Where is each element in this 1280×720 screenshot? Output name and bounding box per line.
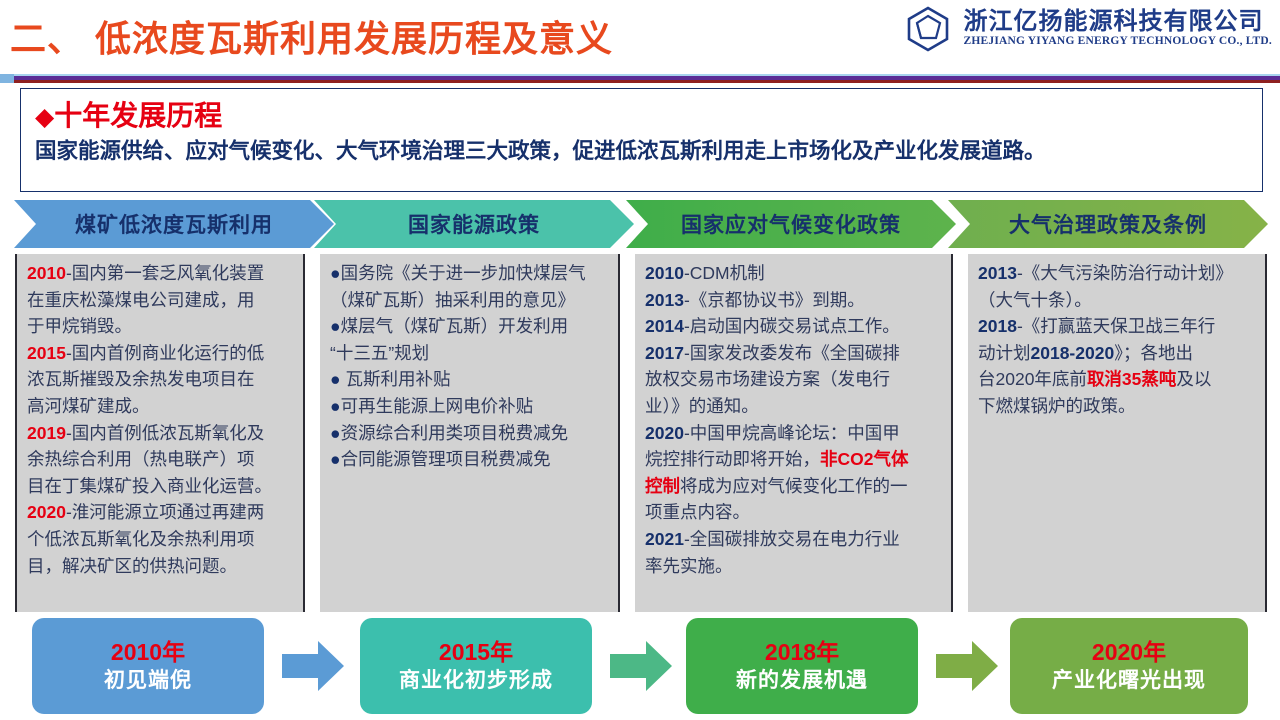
diamond-bullet-icon: ◆ (35, 103, 54, 131)
milestone-2018-year: 2018年 (765, 640, 839, 665)
panel-line: 放权交易市场建设方案（发电行 (645, 366, 943, 393)
panel-coal-mine-low-concentration-gas: 2010-国内第一套乏风氧化装置 在重庆松藻煤电公司建成，用 于甲烷销毁。 20… (15, 254, 305, 612)
panel-line: 个低浓瓦斯氧化及余热利用项 (27, 526, 295, 553)
panel-line: 台2020年底前取消35蒸吨及以 (978, 366, 1257, 393)
panel-line: 烷控排行动即将开始，非CO2气体 (645, 446, 943, 473)
intro-paragraph: 国家能源供给、应对气候变化、大气环境治理三大政策，促进低浓瓦斯利用走上市场化及产… (35, 138, 1248, 165)
chevron-1-label: 煤矿低浓度瓦斯利用 (75, 209, 273, 239)
milestone-2010-year: 2010年 (111, 640, 185, 665)
panel-line: 2018-《打赢蓝天保卫战三年行 (978, 313, 1257, 340)
panel-line: 项重点内容。 (645, 499, 943, 526)
chevron-1[interactable]: 煤矿低浓度瓦斯利用 (14, 200, 334, 248)
hexagon-logo-icon (903, 4, 953, 54)
content-panels: 2010-国内第一套乏风氧化装置 在重庆松藻煤电公司建成，用 于甲烷销毁。 20… (15, 254, 1267, 612)
company-name-cn: 浙江亿扬能源科技有限公司 (963, 9, 1272, 35)
milestone-2018-label: 新的发展机遇 (736, 669, 868, 692)
panel-line: 2019-国内首例低浓瓦斯氧化及 (27, 420, 295, 447)
milestone-2010[interactable]: 2010年 初见端倪 (32, 618, 264, 714)
milestone-2015[interactable]: 2015年 商业化初步形成 (360, 618, 592, 714)
panel-line: 浓瓦斯摧毁及余热发电项目在 (27, 366, 295, 393)
page-title: 二、 低浓度瓦斯利用发展历程及意义 (10, 10, 613, 62)
milestone-2020-year: 2020年 (1092, 640, 1166, 665)
panel-line: 在重庆松藻煤电公司建成，用 (27, 287, 295, 314)
panel-line: 2013-《大气污染防治行动计划》 (978, 260, 1257, 287)
panel-climate-change-policy: 2010-CDM机制 2013-《京都协议书》到期。 2014-启动国内碳交易试… (635, 254, 953, 612)
panel-line: 2013-《京都协议书》到期。 (645, 287, 943, 314)
intro-heading: ◆十年发展历程 (35, 98, 1248, 133)
panel-line: ● 瓦斯利用补贴 (330, 366, 610, 393)
panel-line: 2015-国内首例商业化运行的低 (27, 340, 295, 367)
milestone-row: 2010年 初见端倪 2015年 商业化初步形成 2018年 新的发展机遇 20… (0, 618, 1280, 720)
panel-line: ●煤层气（煤矿瓦斯）开发利用 (330, 313, 610, 340)
company-name-en: ZHEJIANG YIYANG ENERGY TECHNOLOGY CO., L… (963, 35, 1272, 49)
panel-line: “十三五”规划 (330, 340, 610, 367)
panel-line: ●国务院《关于进一步加快煤层气 (330, 260, 610, 287)
panel-line: （大气十条）。 (978, 287, 1257, 314)
intro-box: ◆十年发展历程 国家能源供给、应对气候变化、大气环境治理三大政策，促进低浓瓦斯利… (20, 88, 1263, 192)
panel-line: 动计划2018-2020》；各地出 (978, 340, 1257, 367)
milestone-2015-label: 商业化初步形成 (399, 669, 553, 692)
milestone-2020-label: 产业化曙光出现 (1052, 669, 1206, 692)
slide-root: 二、 低浓度瓦斯利用发展历程及意义 浙江亿扬能源科技有限公司 ZHEJIANG … (0, 0, 1280, 720)
slide-header: 二、 低浓度瓦斯利用发展历程及意义 浙江亿扬能源科技有限公司 ZHEJIANG … (0, 0, 1280, 75)
milestone-2015-year: 2015年 (439, 640, 513, 665)
panel-national-energy-policy: ●国务院《关于进一步加快煤层气 （煤矿瓦斯）抽采利用的意见》 ●煤层气（煤矿瓦斯… (320, 254, 620, 612)
panel-line: 目，解决矿区的供热问题。 (27, 553, 295, 580)
panel-line: 于甲烷销毁。 (27, 313, 295, 340)
company-logo: 浙江亿扬能源科技有限公司 ZHEJIANG YIYANG ENERGY TECH… (903, 4, 1272, 54)
chevron-4[interactable]: 大气治理政策及条例 (948, 200, 1268, 248)
panel-line: 率先实施。 (645, 553, 943, 580)
panel-line: 2020-淮河能源立项通过再建两 (27, 499, 295, 526)
panel-line: 2010-国内第一套乏风氧化装置 (27, 260, 295, 287)
panel-line: 2014-启动国内碳交易试点工作。 (645, 313, 943, 340)
chevron-3-label: 国家应对气候变化政策 (681, 209, 901, 239)
chevron-2-label: 国家能源政策 (408, 209, 540, 239)
panel-line: 高河煤矿建成。 (27, 393, 295, 420)
panel-line: 下燃煤锅炉的政策。 (978, 393, 1257, 420)
panel-line: 2010-CDM机制 (645, 260, 943, 287)
intro-heading-text: 十年发展历程 (54, 100, 222, 131)
panel-line: ●可再生能源上网电价补贴 (330, 393, 610, 420)
arrow-right-icon-3 (936, 640, 998, 692)
panel-line: 业）》的通知。 (645, 393, 943, 420)
chevron-band: 煤矿低浓度瓦斯利用 国家能源政策 国家应对气候变化政策 (14, 200, 1268, 248)
chevron-2[interactable]: 国家能源政策 (314, 200, 634, 248)
panel-line: ●资源综合利用类项目税费减免 (330, 420, 610, 447)
milestone-2018[interactable]: 2018年 新的发展机遇 (686, 618, 918, 714)
panel-line: 余热综合利用（热电联产）项 (27, 446, 295, 473)
panel-line: 2017-国家发改委发布《全国碳排 (645, 340, 943, 367)
panel-line: 2020-中国甲烷高峰论坛：中国甲 (645, 420, 943, 447)
panel-line: 2021-全国碳排放交易在电力行业 (645, 526, 943, 553)
panel-line: ●合同能源管理项目税费减免 (330, 446, 610, 473)
chevron-4-label: 大气治理政策及条例 (1009, 209, 1207, 239)
arrow-right-icon-2 (610, 640, 672, 692)
header-divider (0, 74, 1280, 83)
milestone-2010-label: 初见端倪 (104, 669, 192, 692)
arrow-right-icon-1 (282, 640, 344, 692)
panel-air-pollution-policy: 2013-《大气污染防治行动计划》 （大气十条）。 2018-《打赢蓝天保卫战三… (968, 254, 1267, 612)
panel-line: （煤矿瓦斯）抽采利用的意见》 (330, 287, 610, 314)
milestone-2020[interactable]: 2020年 产业化曙光出现 (1010, 618, 1248, 714)
chevron-3[interactable]: 国家应对气候变化政策 (626, 200, 956, 248)
panel-line: 目在丁集煤矿投入商业化运营。 (27, 473, 295, 500)
panel-line: 控制将成为应对气候变化工作的一 (645, 473, 943, 500)
